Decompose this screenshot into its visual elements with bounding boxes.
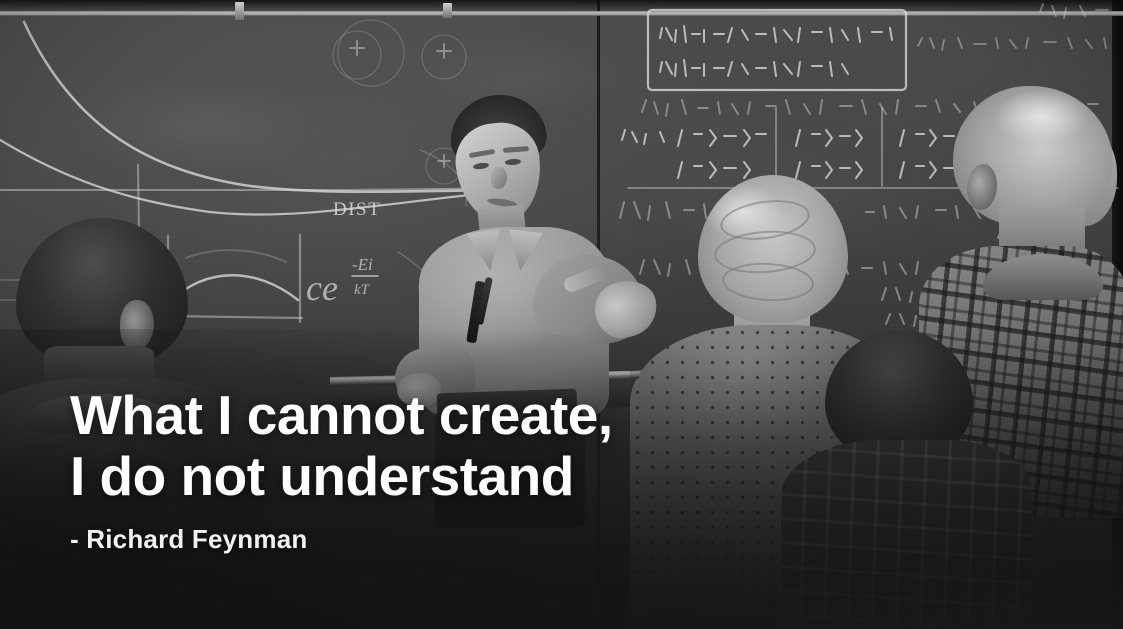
quote-block: What I cannot create, I do not understan…	[70, 385, 710, 555]
quote-attribution: - Richard Feynman	[70, 524, 710, 555]
student-d-plaid-pattern	[781, 440, 1031, 629]
quote-line-2: I do not understand	[70, 446, 710, 507]
quote-line-1: What I cannot create,	[70, 385, 710, 446]
quote-poster: DIST ce -Ei kT	[0, 0, 1123, 629]
rail-clip-right	[443, 3, 452, 18]
rail-clip-left	[235, 2, 244, 20]
top-rail	[0, 11, 1123, 16]
person-student-dark-bottom	[815, 330, 1025, 629]
